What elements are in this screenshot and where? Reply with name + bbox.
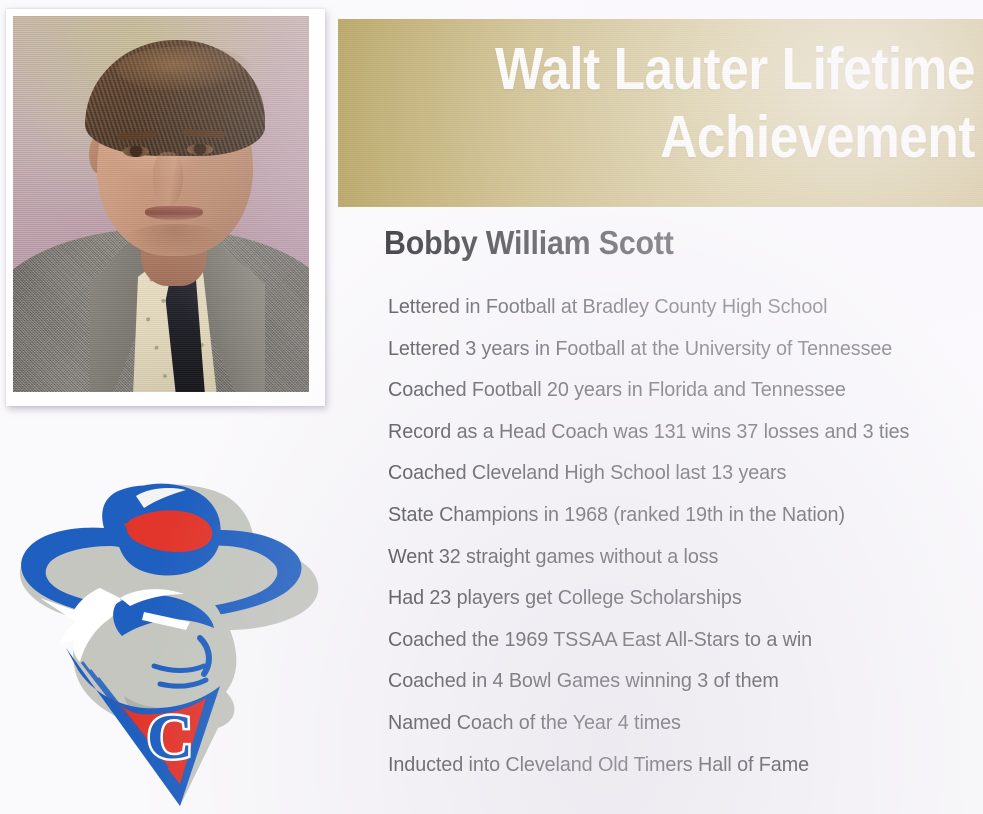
- hair-highlight: [117, 46, 253, 92]
- award-banner: Walt Lauter Lifetime Achievement: [338, 19, 983, 207]
- nose: [153, 152, 183, 206]
- banner-title-line-1: Walt Lauter Lifetime: [427, 35, 975, 103]
- achievement-item: Named Coach of the Year 4 times: [388, 702, 967, 744]
- achievement-item: Inducted into Cleveland Old Timers Hall …: [388, 744, 967, 786]
- achievement-item: Had 23 players get College Scholarships: [388, 577, 967, 619]
- award-plaque-page: Walt Lauter Lifetime Achievement Bobby W…: [0, 0, 983, 814]
- banner-title: Walt Lauter Lifetime Achievement: [427, 35, 975, 171]
- mouth: [145, 206, 203, 220]
- achievement-item: Lettered 3 years in Football at the Univ…: [388, 328, 967, 370]
- achievement-item: Coached Football 20 years in Florida and…: [388, 369, 967, 411]
- portrait-photo: [13, 16, 309, 392]
- achievement-item: Coached the 1969 TSSAA East All-Stars to…: [388, 619, 967, 661]
- achievement-item: Coached Cleveland High School last 13 ye…: [388, 452, 967, 494]
- eye-right: [187, 144, 213, 155]
- achievement-item: Coached in 4 Bowl Games winning 3 of the…: [388, 660, 967, 702]
- achievement-item: Went 32 straight games without a loss: [388, 536, 967, 578]
- eye-left: [123, 146, 149, 157]
- honoree-name: Bobby William Scott: [384, 223, 674, 263]
- monogram-letter: C: [147, 701, 193, 772]
- banner-title-line-2: Achievement: [427, 103, 975, 171]
- achievement-list: Lettered in Football at Bradley County H…: [388, 286, 983, 785]
- portrait-frame: [6, 9, 325, 406]
- chin-shadow: [123, 224, 227, 258]
- portrait-subject: [13, 16, 309, 392]
- achievement-item: Lettered in Football at Bradley County H…: [388, 286, 967, 328]
- bandana-monogram: C: [147, 701, 193, 772]
- achievement-item: State Champions in 1968 (ranked 19th in …: [388, 494, 967, 536]
- achievement-item: Record as a Head Coach was 131 wins 37 l…: [388, 411, 967, 453]
- cowboy-mascot-logo: C: [4, 470, 334, 814]
